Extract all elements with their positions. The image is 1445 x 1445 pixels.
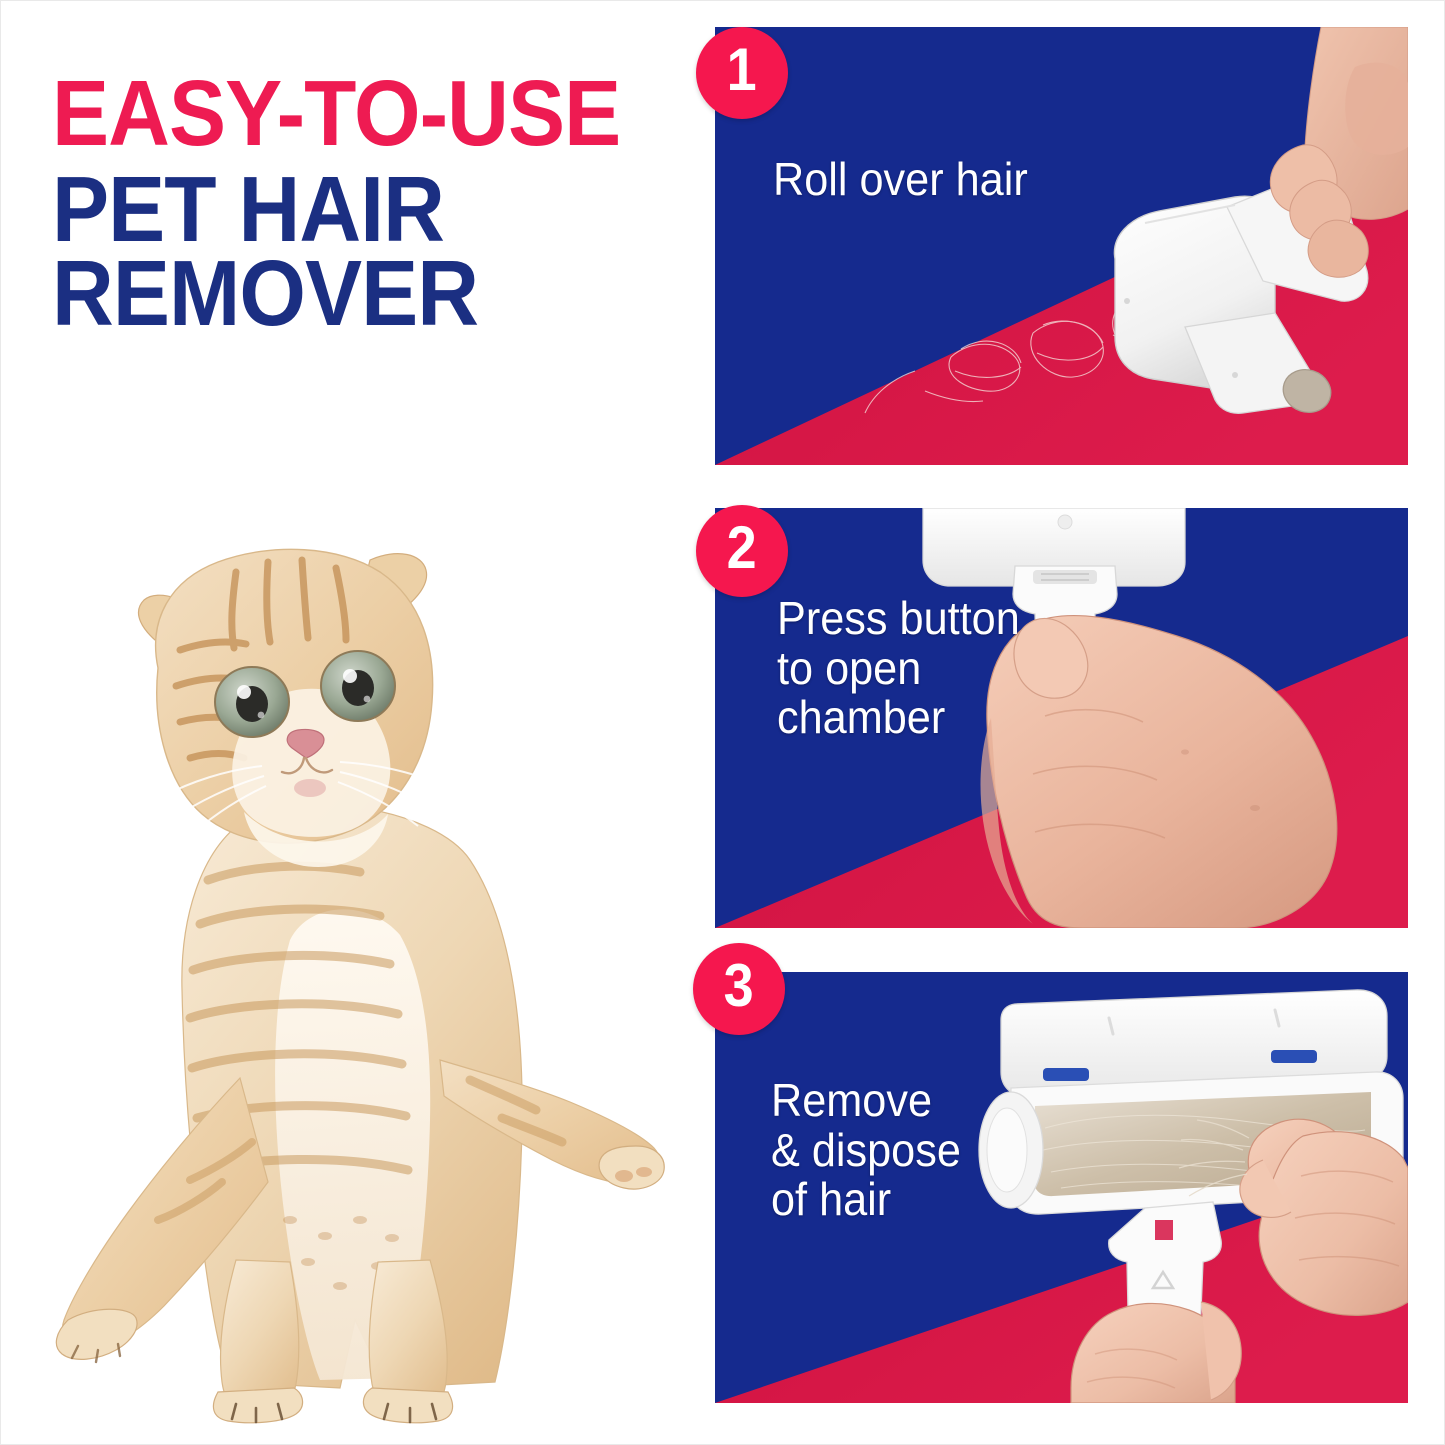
page-title: EASY-TO-USE PET HAIR REMOVER: [52, 74, 682, 334]
lid-clip-right: [1271, 1050, 1317, 1063]
headline-line-3: REMOVER: [52, 254, 632, 334]
release-button: [1033, 570, 1097, 584]
step-badge-2-number: 2: [727, 518, 757, 578]
step-panel-2: Press button to open chamber: [715, 508, 1408, 928]
lid-clip-left: [1043, 1068, 1089, 1081]
step-1-illustration: [715, 27, 1408, 465]
hero-cat-image: [40, 520, 680, 1425]
step-badge-2: 2: [696, 505, 788, 597]
step-2-caption: Press button to open chamber: [777, 594, 1020, 743]
step-badge-3: 3: [693, 943, 785, 1035]
step-1-caption: Roll over hair: [773, 155, 1028, 205]
headline-line-2: PET HAIR: [52, 170, 632, 250]
step-panel-1: Roll over hair: [715, 27, 1408, 465]
step-3-caption: Remove & dispose of hair: [771, 1076, 961, 1225]
step-badge-1-number: 1: [727, 40, 757, 100]
headline-line-1: EASY-TO-USE: [52, 74, 632, 154]
step-panel-3: Remove & dispose of hair: [715, 972, 1408, 1403]
step-badge-1: 1: [696, 27, 788, 119]
cat-illustration: [40, 520, 680, 1425]
step-badge-3-number: 3: [724, 956, 754, 1016]
